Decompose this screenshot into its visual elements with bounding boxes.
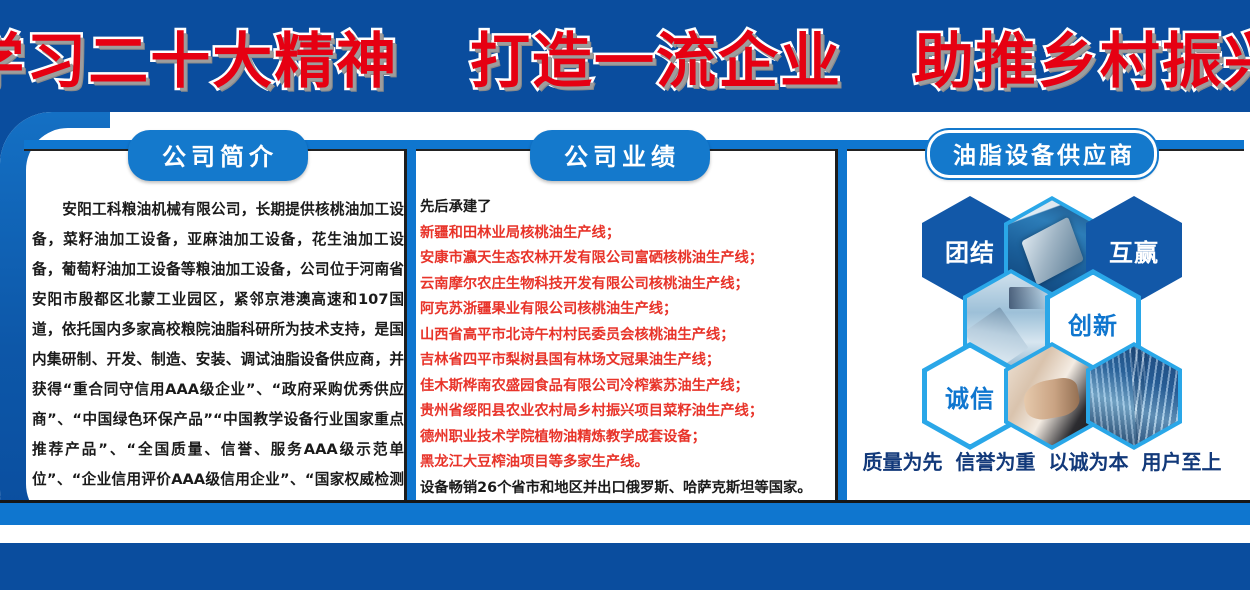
- hexagon-mutual-win-label: 互赢: [1109, 233, 1159, 268]
- record-intro: 先后承建了: [420, 195, 820, 221]
- banner-title: 学习二十大精神 打造一流企业 助推乡村振兴: [0, 13, 1250, 100]
- hexagon-unity-label: 团结: [945, 233, 995, 268]
- slogan-part-3: 以诚为本: [1049, 450, 1129, 474]
- slogan-part-2: 信誉为重: [956, 450, 1036, 474]
- record-item: 山西省高平市北诗午村村民委员会核桃油生产线；: [420, 323, 820, 349]
- panel-brand-values: 油脂设备供应商 团结 互赢 创新 诚信 质: [846, 130, 1238, 475]
- brand-slogan: 质量为先信誉为重以诚为本用户至上: [846, 446, 1238, 475]
- record-footer-line-1: 设备畅销26个省市和地区并出口俄罗斯、哈萨克斯坦等国家。: [420, 476, 820, 502]
- handshake-icon: [1008, 346, 1096, 445]
- company-profile-paragraph: 安阳工科粮油机械有限公司，长期提供核桃油加工设备，菜籽油加工设备，亚麻油加工设备…: [32, 201, 404, 518]
- header-banner: 学习二十大精神 打造一流企业 助推乡村振兴: [0, 0, 1250, 112]
- record-item: 新疆和田林业局核桃油生产线；: [420, 221, 820, 247]
- banner-title-part3: 助推乡村振兴: [914, 27, 1250, 97]
- hexagon-cluster: 团结 互赢 创新 诚信: [846, 192, 1238, 444]
- record-item: 德州职业技术学院植物油精炼教学成套设备；: [420, 425, 820, 451]
- banner-title-part1: 学习二十大精神: [0, 27, 398, 97]
- record-list: 先后承建了 新疆和田林业局核桃油生产线； 安康市瀛天生态农林开发有限公司富硒核桃…: [420, 195, 820, 527]
- record-item: 吉林省四平市梨树县国有林场文冠果油生产线；: [420, 348, 820, 374]
- hexagon-innovation-label: 创新: [1068, 306, 1118, 341]
- company-profile-text: 安阳工科粮油机械有限公司，长期提供核桃油加工设备，菜籽油加工设备，亚麻油加工设备…: [32, 195, 404, 525]
- bottom-band-white: [0, 525, 1250, 543]
- record-item: 阿克苏浙疆果业有限公司核桃油生产线；: [420, 297, 820, 323]
- record-item: 云南摩尔农庄生物科技开发有限公司核桃油生产线；: [420, 272, 820, 298]
- slogan-part-1: 质量为先: [863, 450, 943, 474]
- bottom-band-deep-blue: [0, 543, 1250, 590]
- record-item: 贵州省绥阳县农业农村局乡村振兴项目菜籽油生产线；: [420, 399, 820, 425]
- company-record-badge: 公司业绩: [530, 130, 710, 181]
- hexagon-integrity-label: 诚信: [945, 379, 995, 414]
- slogan-part-4: 用户至上: [1142, 450, 1222, 474]
- brand-supplier-badge: 油脂设备供应商: [927, 130, 1157, 178]
- banner-title-part2: 打造一流企业: [470, 27, 842, 97]
- record-item: 黑龙江大豆榨油项目等多家生产线。: [420, 450, 820, 476]
- company-profile-badge: 公司简介: [128, 130, 308, 181]
- record-item: 安康市瀛天生态农林开发有限公司富硒核桃油生产线；: [420, 246, 820, 272]
- panel-company-profile: 公司简介 安阳工科粮油机械有限公司，长期提供核桃油加工设备，菜籽油加工设备，亚麻…: [32, 130, 404, 525]
- bottom-band-bright-blue: [0, 503, 1250, 525]
- glass-tower-icon: [1090, 346, 1178, 445]
- frame-divider-1: [407, 140, 416, 514]
- record-item: 佳木斯桦南农盛园食品有限公司冷榨紫苏油生产线；: [420, 374, 820, 400]
- panel-company-record: 公司业绩 先后承建了 新疆和田林业局核桃油生产线； 安康市瀛天生态农林开发有限公…: [420, 130, 820, 527]
